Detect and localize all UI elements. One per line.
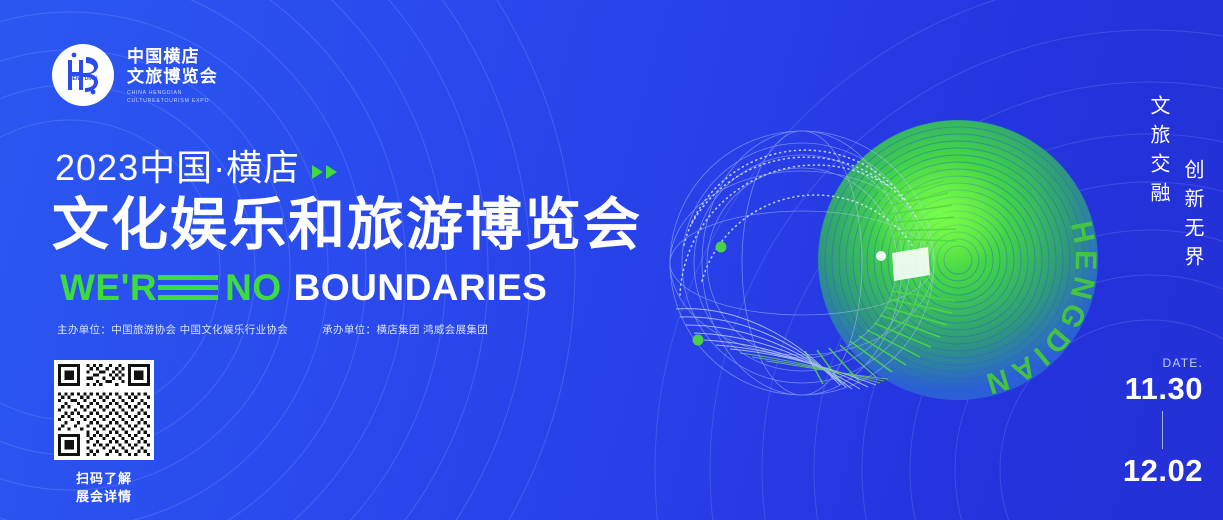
dual-sphere-network-graphic: HENGDIAN [640, 95, 1110, 425]
hero-kicker: 2023中国·横店 [55, 148, 337, 188]
hengdian-circular-emblem-icon: HENG DIAN [48, 40, 118, 110]
slogan-vertical: 文旅交融 创新无界 [1141, 95, 1209, 275]
qr-caption: 扫码了解 展会详情 [76, 470, 132, 506]
slogan-column-1: 文旅交融 [1141, 95, 1175, 275]
slogan-column-2: 创新无界 [1175, 159, 1209, 275]
organizer-line: 主办单位：中国旅游协会 中国文化娱乐行业协会 承办单位：横店集团 鸿威会展集团 [57, 322, 488, 337]
hero-kicker-text: 2023中国·横店 [55, 148, 300, 188]
qr-section: 扫码了解 展会详情 [50, 360, 158, 506]
brand-logo: HENG DIAN 中国横店 文旅博览会 CHINA HENGDIAN CULT… [48, 40, 218, 110]
double-play-arrow-icon [312, 165, 337, 188]
brand-en-line2: CULTURE&TOURISM EXPO [127, 98, 218, 106]
date-end: 12.02 [1093, 453, 1203, 489]
brand-name-line1: 中国横店 [127, 47, 218, 67]
tagline-green-post: NO [225, 268, 282, 308]
tagline-white: BOUNDARIES [294, 268, 548, 308]
page-title: 文化娱乐和旅游博览会 [52, 192, 642, 258]
emblem-label: HENG DIAN [69, 76, 97, 82]
qr-caption-line1: 扫码了解 [76, 470, 132, 488]
date-label: DATE. [1093, 355, 1203, 371]
event-date: DATE. 11.30 12.02 [1093, 355, 1203, 489]
stylized-e-bars-icon [158, 275, 218, 300]
qr-caption-line2: 展会详情 [76, 488, 132, 506]
qr-code-icon [58, 364, 150, 456]
host-organization: 主办单位：中国旅游协会 中国文化娱乐行业协会 [57, 322, 288, 337]
brand-en-line1: CHINA HENGDIAN [127, 90, 218, 98]
co-organizer: 承办单位：横店集团 鸿威会展集团 [322, 322, 488, 337]
tagline-green-pre: WE'R [60, 268, 157, 308]
date-start: 11.30 [1093, 371, 1203, 407]
date-separator [1162, 411, 1163, 449]
hero-tagline: WE'R NO BOUNDARIES [60, 268, 547, 308]
event-banner: HENG DIAN 中国横店 文旅博览会 CHINA HENGDIAN CULT… [0, 0, 1223, 520]
qr-code[interactable] [54, 360, 154, 460]
brand-name-line2: 文旅博览会 [127, 67, 218, 87]
